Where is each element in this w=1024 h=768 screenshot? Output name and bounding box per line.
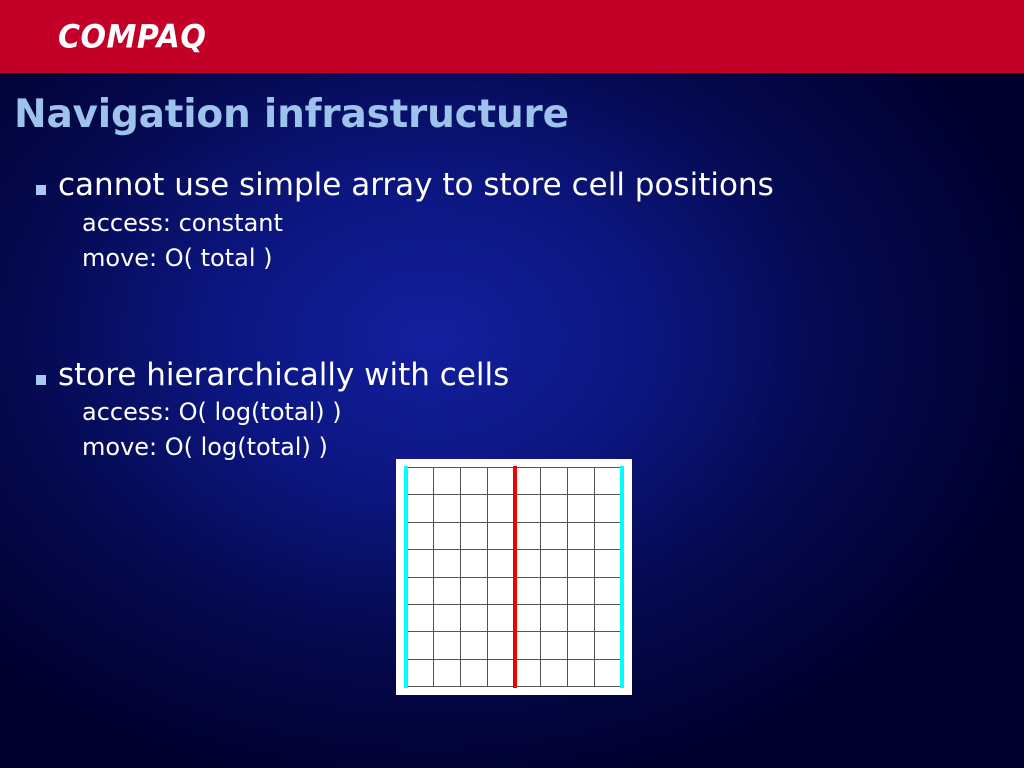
grid-cell [514,495,541,522]
bullet-item: cannot use simple array to store cell po… [36,168,976,204]
grid-cell [433,659,460,686]
bullet-label: cannot use simple array to store cell po… [58,168,774,204]
grid-cell [514,659,541,686]
grid-cell [433,522,460,549]
sub-line: move: O( total ) [82,241,976,276]
grid-cell [595,604,622,631]
grid-cell [407,495,434,522]
grid-cell [595,522,622,549]
grid-cell [487,632,514,659]
grid-cell [433,577,460,604]
grid-cell [514,522,541,549]
slide-body: cannot use simple array to store cell po… [36,168,976,465]
grid-cell [460,495,487,522]
grid-cell [487,659,514,686]
header-band: COMPAQ [0,0,1024,73]
sub-list: access: O( log(total) ) move: O( log(tot… [82,395,976,465]
compaq-logo: COMPAQ [58,22,206,54]
grid-left-edge-marker [404,466,408,688]
grid-cell [514,604,541,631]
grid-cell [487,577,514,604]
grid-cell [407,632,434,659]
grid-cell [407,659,434,686]
grid-cell [514,550,541,577]
grid-canvas [399,462,629,692]
grid-cell [595,495,622,522]
bullet-label: store hierarchically with cells [58,358,509,394]
grid-cell [407,550,434,577]
grid-cell [541,659,568,686]
presentation-slide: COMPAQ Navigation infrastructure cannot … [0,0,1024,768]
grid-cell [407,577,434,604]
grid-cell [460,659,487,686]
grid-cell [487,550,514,577]
grid-cell [487,522,514,549]
bullet-item: store hierarchically with cells [36,358,976,394]
grid-cell [433,632,460,659]
bullet-block-1: cannot use simple array to store cell po… [36,168,976,276]
sub-line: access: constant [82,206,976,241]
grid-cell [460,550,487,577]
grid-cell [595,632,622,659]
grid-cell [568,604,595,631]
grid-cell [541,522,568,549]
grid-cell [407,604,434,631]
grid-cell [568,550,595,577]
grid-cell [514,632,541,659]
grid-cell [541,632,568,659]
grid-cell [460,468,487,495]
grid-cell [568,468,595,495]
grid-cell [487,604,514,631]
grid-cell [460,604,487,631]
grid-cell [568,632,595,659]
grid-cell [460,577,487,604]
grid-cell [541,495,568,522]
grid-cell [460,632,487,659]
grid-cell [595,550,622,577]
grid-cell [541,604,568,631]
grid-cell [433,495,460,522]
sub-line: access: O( log(total) ) [82,395,976,430]
grid-cell [407,522,434,549]
grid-cell [541,468,568,495]
grid-cell [568,577,595,604]
grid-cell [433,604,460,631]
grid-cell [568,659,595,686]
grid-cell [595,577,622,604]
grid-cell [433,468,460,495]
grid-cell [487,468,514,495]
grid-cell [487,495,514,522]
grid-cell [595,468,622,495]
grid-cell [514,468,541,495]
grid-right-edge-marker [620,466,624,688]
sub-list: access: constant move: O( total ) [82,206,976,276]
grid-cell [568,522,595,549]
grid-cell [595,659,622,686]
grid-cell [407,468,434,495]
grid-center-divider [513,466,517,688]
grid-cell [541,577,568,604]
square-bullet-icon [36,185,46,195]
bullet-block-2: store hierarchically with cells access: … [36,358,976,466]
grid-cell [514,577,541,604]
square-bullet-icon [36,375,46,385]
grid-cell [541,550,568,577]
page-title: Navigation infrastructure [14,92,569,137]
grid-cell [460,522,487,549]
grid-cell [433,550,460,577]
grid-cell [568,495,595,522]
cell-grid-diagram [396,459,632,695]
